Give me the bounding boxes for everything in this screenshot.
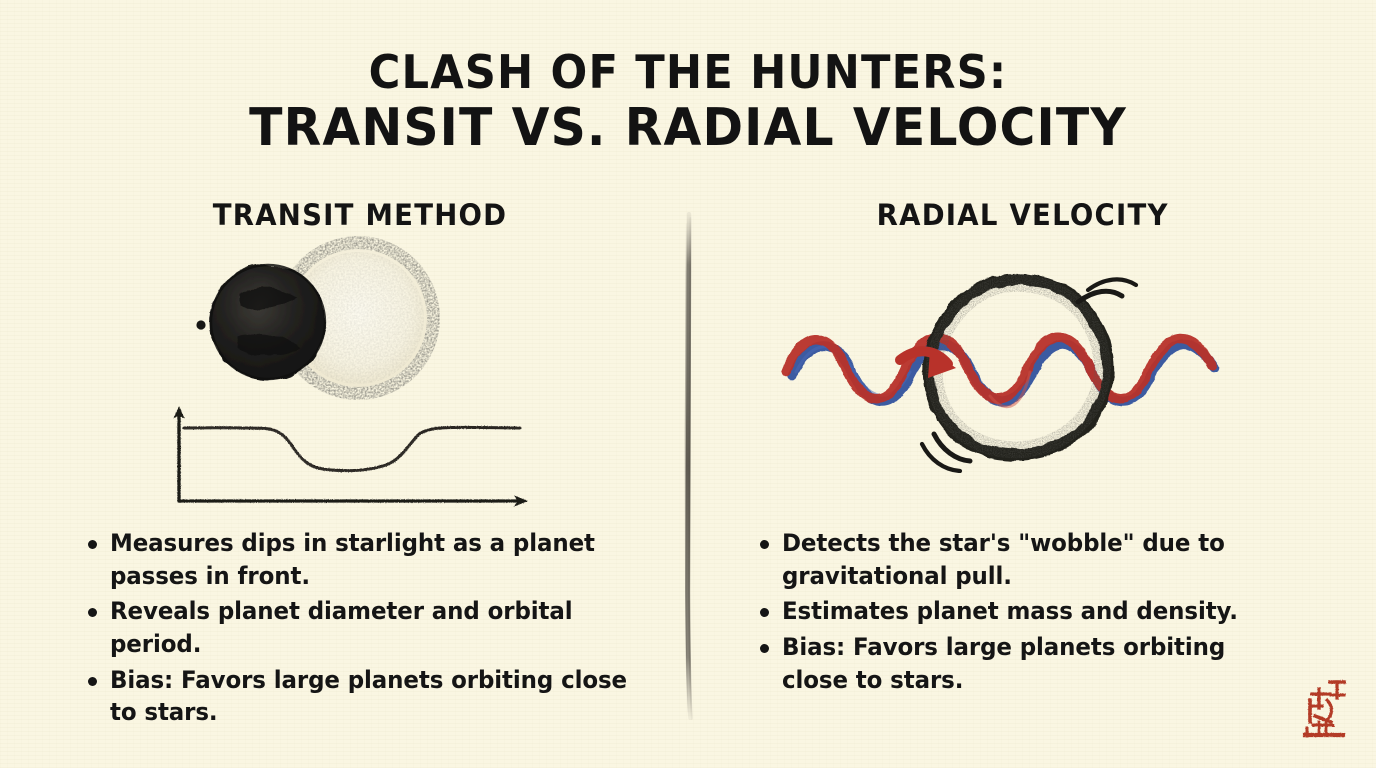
section-heading-transit: TRANSIT METHOD <box>213 198 508 232</box>
bullet-text: Estimates planet mass and density. <box>782 595 1296 628</box>
star-ring-texture <box>934 283 1102 450</box>
bullet-list-radial: Detects the star's "wobble" due to gravi… <box>760 527 1320 699</box>
bullet-list-transit: Measures dips in starlight as a planet p… <box>88 527 660 732</box>
planet-silhouette <box>210 264 326 380</box>
bullet-dot-icon <box>760 644 769 653</box>
artist-seal-stamp-icon <box>1297 678 1349 744</box>
motion-arcs-top <box>1078 279 1136 302</box>
radial-velocity-illustration <box>778 268 1238 473</box>
transit-light-curve-chart <box>162 402 542 517</box>
y-axis <box>173 406 184 501</box>
title-line-2: TRANSIT VS. RADIAL VELOCITY <box>41 101 1334 156</box>
bullet-text: Reveals planet diameter and orbital peri… <box>110 595 635 660</box>
light-curve-line <box>184 427 520 470</box>
bullet-dot-icon <box>88 677 97 686</box>
page-title: CLASH OF THE HUNTERS: TRANSIT VS. RADIAL… <box>0 48 1376 156</box>
bullet-dot-icon <box>88 540 97 549</box>
x-axis <box>179 495 528 506</box>
list-item: Bias: Favors large planets orbiting clos… <box>88 664 660 729</box>
section-heading-radial: RADIAL VELOCITY <box>877 198 1169 232</box>
title-line-1: CLASH OF THE HUNTERS: <box>41 48 1334 97</box>
transit-illustration <box>178 232 478 422</box>
bullet-text: Bias: Favors large planets orbiting clos… <box>782 631 1296 696</box>
list-item: Bias: Favors large planets orbiting clos… <box>760 631 1320 696</box>
column-divider <box>664 212 712 720</box>
bullet-dot-icon <box>88 608 97 617</box>
bullet-text: Detects the star's "wobble" due to gravi… <box>782 527 1296 592</box>
list-item: Reveals planet diameter and orbital peri… <box>88 595 660 660</box>
bullet-dot-icon <box>760 608 769 617</box>
list-item: Measures dips in starlight as a planet p… <box>88 527 660 592</box>
list-item: Estimates planet mass and density. <box>760 595 1320 628</box>
list-item: Detects the star's "wobble" due to gravi… <box>760 527 1320 592</box>
bullet-text: Bias: Favors large planets orbiting clos… <box>110 664 635 729</box>
bullet-text: Measures dips in starlight as a planet p… <box>110 527 635 592</box>
bullet-dot-icon <box>760 540 769 549</box>
wobbling-star <box>929 279 1108 455</box>
small-dot <box>196 320 205 329</box>
